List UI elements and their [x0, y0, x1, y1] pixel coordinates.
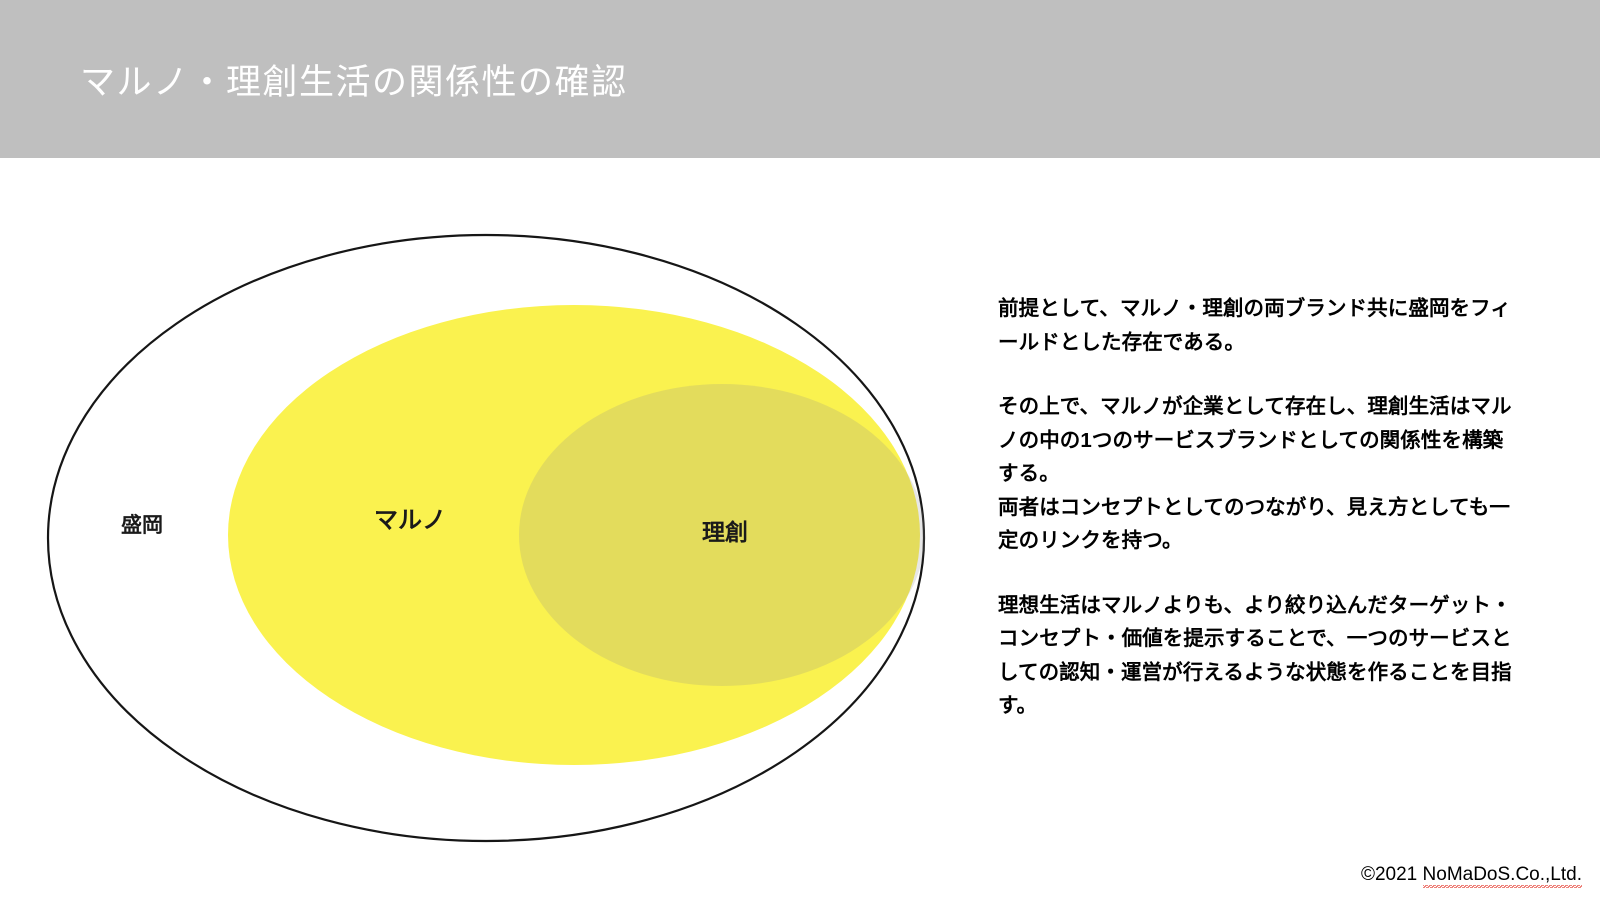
- description-paragraph: 理想生活はマルノよりも、より絞り込んだターゲット・コンセプト・価値を提示すること…: [998, 589, 1518, 723]
- company-name: NoMaDoS.Co.,Ltd.: [1423, 864, 1582, 888]
- page-title: マルノ・理創生活の関係性の確認: [80, 58, 628, 108]
- venn-label-riso: 理創: [665, 518, 785, 546]
- venn-diagram: 盛岡 マルノ 理創: [0, 158, 960, 917]
- footer-copyright: ©2021 NoMaDoS.Co.,Ltd.: [1361, 863, 1582, 887]
- description-panel: 前提として、マルノ・理創の両ブランド共に盛岡をフィールドとした存在である。 その…: [998, 292, 1518, 723]
- header-bar: マルノ・理創生活の関係性の確認: [0, 0, 1600, 158]
- venn-label-maruno: マルノ: [350, 506, 470, 536]
- description-paragraph: 前提として、マルノ・理創の両ブランド共に盛岡をフィールドとした存在である。: [998, 292, 1518, 359]
- venn-label-morioka: 盛岡: [100, 513, 184, 539]
- description-paragraph: その上で、マルノが企業として存在し、理創生活はマルノの中の1つのサービスブランド…: [998, 390, 1518, 558]
- copyright-year: ©2021: [1361, 864, 1423, 885]
